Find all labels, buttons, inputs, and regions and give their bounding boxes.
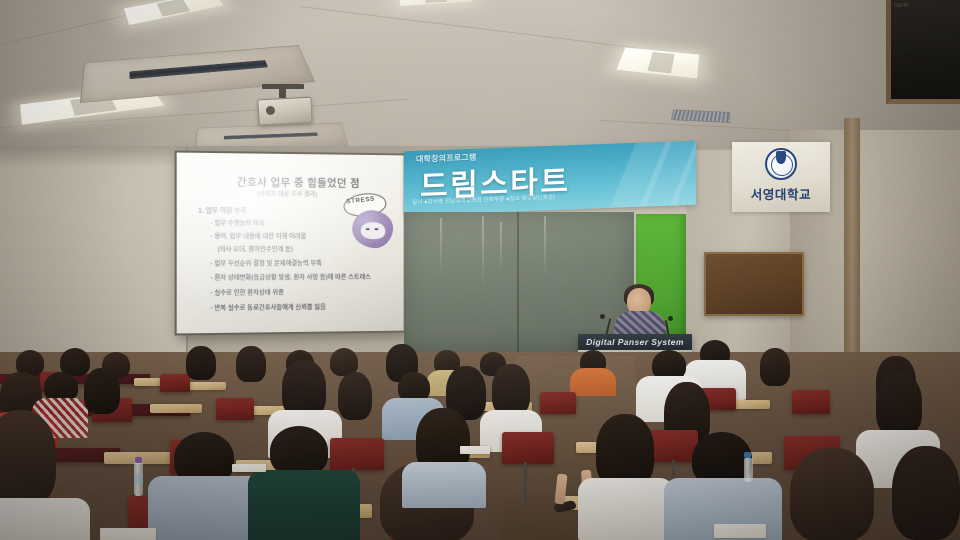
projection-screen: 간호사 업무 중 힘들었던 점 (사직자 대상 조사 결과) 1. 업무 역량 …: [177, 153, 404, 334]
projector-arm: [279, 88, 286, 98]
chalkboard-divider: [517, 212, 519, 352]
paper-sheet: [460, 446, 490, 454]
chair: [502, 432, 554, 464]
desk-top: [150, 404, 202, 413]
cup-lid: [744, 452, 751, 458]
slide-bullet: - 용어, 업무 내용에 대한 이해 어려움: [210, 231, 306, 240]
crest-shield-icon: [776, 151, 786, 164]
projector-lens: [266, 106, 275, 115]
desk-top: [186, 382, 226, 390]
podium-sign: Digital Panser System: [578, 334, 692, 350]
presentation-slide: 간호사 업무 중 힘들었던 점 (사직자 대상 조사 결과) 1. 업무 역량 …: [184, 162, 397, 324]
paper-sheet: [232, 464, 266, 472]
event-banner: 대학창의프로그램 드림스타트 일시 ●강사명 전남대학교병원 간호부장 ●장소 …: [404, 141, 696, 216]
cartoon-eye: [375, 228, 379, 230]
drink-cup: [744, 458, 753, 482]
slide-bullet: - 환자 상태변화(응급상황 발생, 환자 사망 등)에 따른 스트레스: [210, 272, 370, 282]
university-name: 서영대학교: [732, 184, 830, 203]
slide-subtitle: (사직자 대상 조사 결과): [257, 189, 317, 198]
paper-sheet: [714, 524, 766, 538]
chalkboard-glare: [440, 218, 442, 276]
window-label: nbrni: [894, 3, 909, 9]
chalkboard-glare: [544, 216, 546, 278]
podium-sign-text: Digital Panser System: [586, 337, 684, 347]
chair-leg: [524, 462, 527, 506]
slide-bullet: - 실수로 인한 환자상태 위중: [210, 287, 283, 297]
cartoon-blob: [351, 209, 394, 249]
projection-screen-frame: 간호사 업무 중 힘들었던 점 (사직자 대상 조사 결과) 1. 업무 역량 …: [175, 150, 406, 335]
chalkboard-glare: [500, 222, 502, 272]
lecture-hall-photo: nbrni 간호사 업무 중 힘들었던 점 (사직자 대상 조사 결과) 1. …: [0, 0, 960, 540]
chair: [540, 392, 576, 414]
slide-bullet: - 업무 수행능력 미숙: [210, 218, 264, 227]
stress-cartoon: STRESS: [342, 193, 393, 249]
slide-bullet: (의사 오더, 환자인수인계 등): [218, 244, 293, 253]
paper-sheet: [100, 528, 156, 540]
cartoon-eye: [366, 228, 370, 230]
chalkboard-glare: [482, 216, 484, 290]
chair: [792, 390, 830, 414]
chalkboard: [404, 212, 634, 352]
chair: [216, 398, 254, 420]
bottle-cap: [135, 457, 142, 463]
door-frame: [844, 118, 860, 380]
slide-bullet: - 업무 우선순위 결정 및 문제해결능력 부족: [210, 258, 321, 267]
bottle-label: [134, 474, 143, 484]
university-sign: 서영대학교: [732, 142, 830, 212]
microphone-head: [668, 316, 673, 321]
dark-window: nbrni: [886, 0, 960, 104]
cork-notice-board: [704, 252, 804, 316]
chair: [160, 374, 190, 392]
cartoon-face: [361, 222, 385, 239]
slide-item-number: 1. 업무 역량 부족: [198, 204, 246, 214]
slide-bullet: - 반복 실수로 동료간호사들에게 신뢰를 잃음: [210, 302, 325, 312]
chair: [330, 438, 384, 470]
microphone-head: [600, 314, 605, 319]
